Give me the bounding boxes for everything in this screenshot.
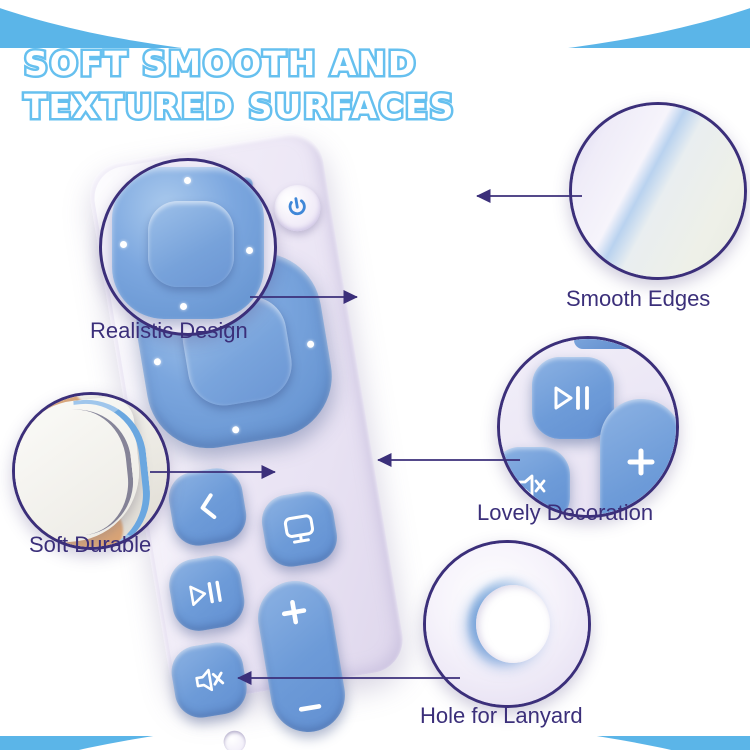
play-pause-icon (550, 383, 596, 413)
minus-icon (294, 697, 326, 718)
tv-monitor-icon (280, 511, 319, 548)
plus-icon (277, 595, 312, 630)
label-smooth-edges: Smooth Edges (566, 286, 710, 312)
dpad-dot (184, 177, 191, 184)
callout-realistic-design-image (102, 161, 274, 333)
dpad-dot (153, 358, 161, 366)
callout-soft-durable (12, 392, 170, 550)
play-pause-icon (185, 577, 229, 609)
callout-hole-for-lanyard (423, 540, 591, 708)
magnified-dpad-center (148, 201, 234, 287)
infographic-canvas: Soft Smooth and Textured Surfaces (0, 0, 750, 750)
back-chevron-icon (192, 490, 223, 524)
dpad-dot (120, 241, 127, 248)
dpad-dot (180, 303, 187, 310)
bottom-white-arc (0, 720, 750, 750)
power-icon (282, 193, 312, 223)
callout-lovely-decoration (497, 336, 679, 518)
dpad-dot (246, 247, 253, 254)
callout-realistic-design (99, 158, 277, 336)
label-hole-for-lanyard: Hole for Lanyard (420, 703, 583, 729)
magnified-dpad (112, 167, 264, 319)
title-line-1: Soft Smooth and (24, 42, 724, 85)
plus-icon (624, 445, 658, 479)
dpad-dot (307, 340, 315, 348)
dpad-dot (232, 426, 240, 434)
mute-speaker-icon (513, 470, 549, 502)
callout-smooth-edges (569, 102, 747, 280)
label-lovely-decoration: Lovely Decoration (477, 500, 653, 526)
callout-smooth-edges-image (569, 102, 747, 280)
mute-speaker-icon (190, 663, 228, 698)
magnified-lanyard-hole (476, 585, 550, 663)
label-realistic-design: Realistic Design (90, 318, 248, 344)
magnified-indicator-pill (574, 336, 644, 349)
label-soft-durable: Soft Durable (29, 532, 151, 558)
